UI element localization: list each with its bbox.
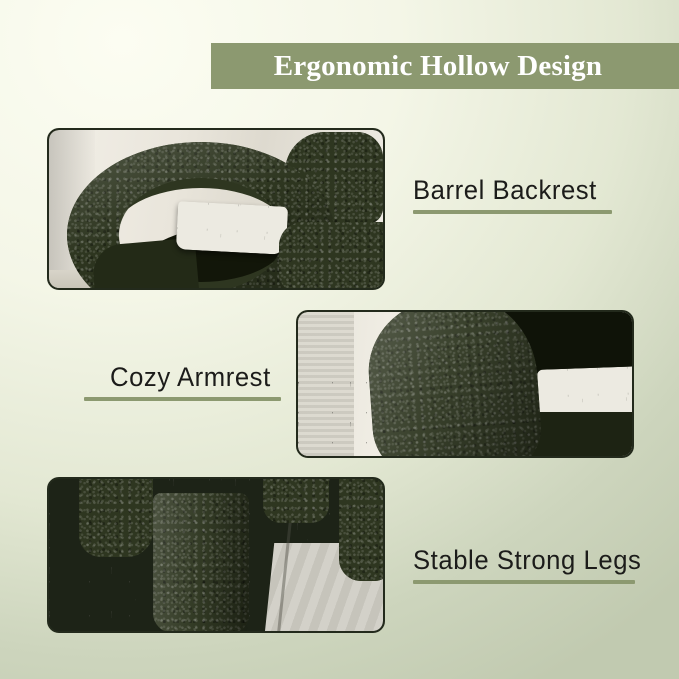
chair-leg-right-texture <box>339 479 383 581</box>
feature-label-stable-strong-legs: Stable Strong Legs <box>413 546 653 584</box>
feature-label-text: Stable Strong Legs <box>413 546 641 574</box>
chair-leg-front-shading <box>153 493 249 631</box>
product-photo-cozy-armrest <box>298 312 632 456</box>
product-photo-barrel-backrest <box>49 130 383 288</box>
chair-leg-back-left-texture <box>79 479 153 557</box>
feature-label-text: Cozy Armrest <box>110 363 272 391</box>
feature-image-barrel-backrest <box>47 128 385 290</box>
marble-accent-band <box>176 201 288 255</box>
chair-armrest-shading <box>364 312 544 456</box>
feature-label-barrel-backrest: Barrel Backrest <box>413 176 612 214</box>
infographic-canvas: Ergonomic Hollow Design Barrel Backrest <box>0 0 679 679</box>
feature-image-cozy-armrest <box>296 310 634 458</box>
chair-lower-arm-texture <box>279 222 383 288</box>
product-photo-stable-strong-legs <box>49 479 383 631</box>
feature-label-underline <box>413 210 612 214</box>
feature-image-stable-strong-legs <box>47 477 385 633</box>
title-banner: Ergonomic Hollow Design <box>211 43 679 89</box>
chair-leg-back-right-texture <box>263 479 329 523</box>
feature-label-underline <box>413 580 635 584</box>
page-title: Ergonomic Hollow Design <box>274 52 602 81</box>
feature-label-underline <box>84 397 281 401</box>
feature-label-text: Barrel Backrest <box>413 176 602 204</box>
feature-label-cozy-armrest: Cozy Armrest <box>84 363 281 401</box>
